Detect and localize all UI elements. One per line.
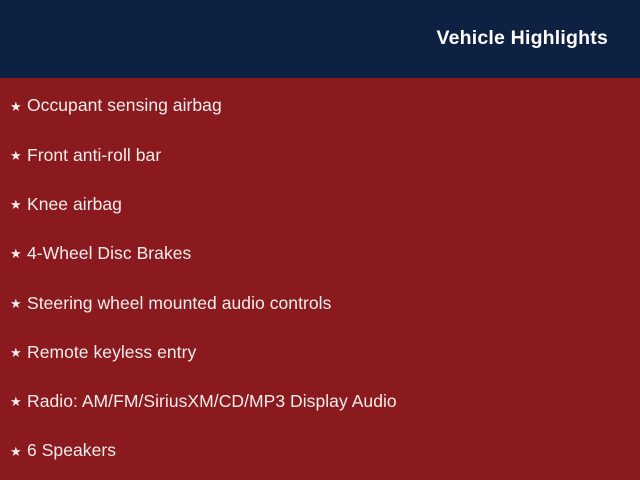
page-title: Vehicle Highlights xyxy=(436,29,608,49)
list-item: ★Radio: AM/FM/SiriusXM/CD/MP3 Display Au… xyxy=(10,389,397,415)
star-bullet-icon: ★ xyxy=(10,346,27,359)
star-bullet-icon: ★ xyxy=(10,100,27,113)
list-item: ★Steering wheel mounted audio controls xyxy=(10,290,331,316)
list-item: ★6 Speakers xyxy=(10,438,116,464)
list-item-label: 6 Speakers xyxy=(27,441,116,460)
vehicle-highlights-slide: Vehicle Highlights ★Occupant sensing air… xyxy=(0,0,640,480)
star-bullet-icon: ★ xyxy=(10,395,27,408)
list-item-label: Steering wheel mounted audio controls xyxy=(27,294,331,313)
list-item: ★Front anti-roll bar xyxy=(10,142,161,168)
list-item: ★4-Wheel Disc Brakes xyxy=(10,241,191,267)
list-item-label: Remote keyless entry xyxy=(27,343,196,362)
star-bullet-icon: ★ xyxy=(10,297,27,310)
list-item-label: 4-Wheel Disc Brakes xyxy=(27,244,191,263)
list-item: ★Knee airbag xyxy=(10,192,122,218)
slide-header: Vehicle Highlights xyxy=(0,0,640,78)
list-item: ★Occupant sensing airbag xyxy=(10,93,222,119)
star-bullet-icon: ★ xyxy=(10,445,27,458)
list-item-label: Occupant sensing airbag xyxy=(27,96,222,115)
list-item: ★Remote keyless entry xyxy=(10,340,196,366)
list-item-label: Radio: AM/FM/SiriusXM/CD/MP3 Display Aud… xyxy=(27,392,397,411)
list-item-label: Front anti-roll bar xyxy=(27,146,161,165)
slide-body: ★Occupant sensing airbag★Front anti-roll… xyxy=(0,78,640,480)
star-bullet-icon: ★ xyxy=(10,198,27,211)
star-bullet-icon: ★ xyxy=(10,247,27,260)
star-bullet-icon: ★ xyxy=(10,149,27,162)
list-item-label: Knee airbag xyxy=(27,195,122,214)
